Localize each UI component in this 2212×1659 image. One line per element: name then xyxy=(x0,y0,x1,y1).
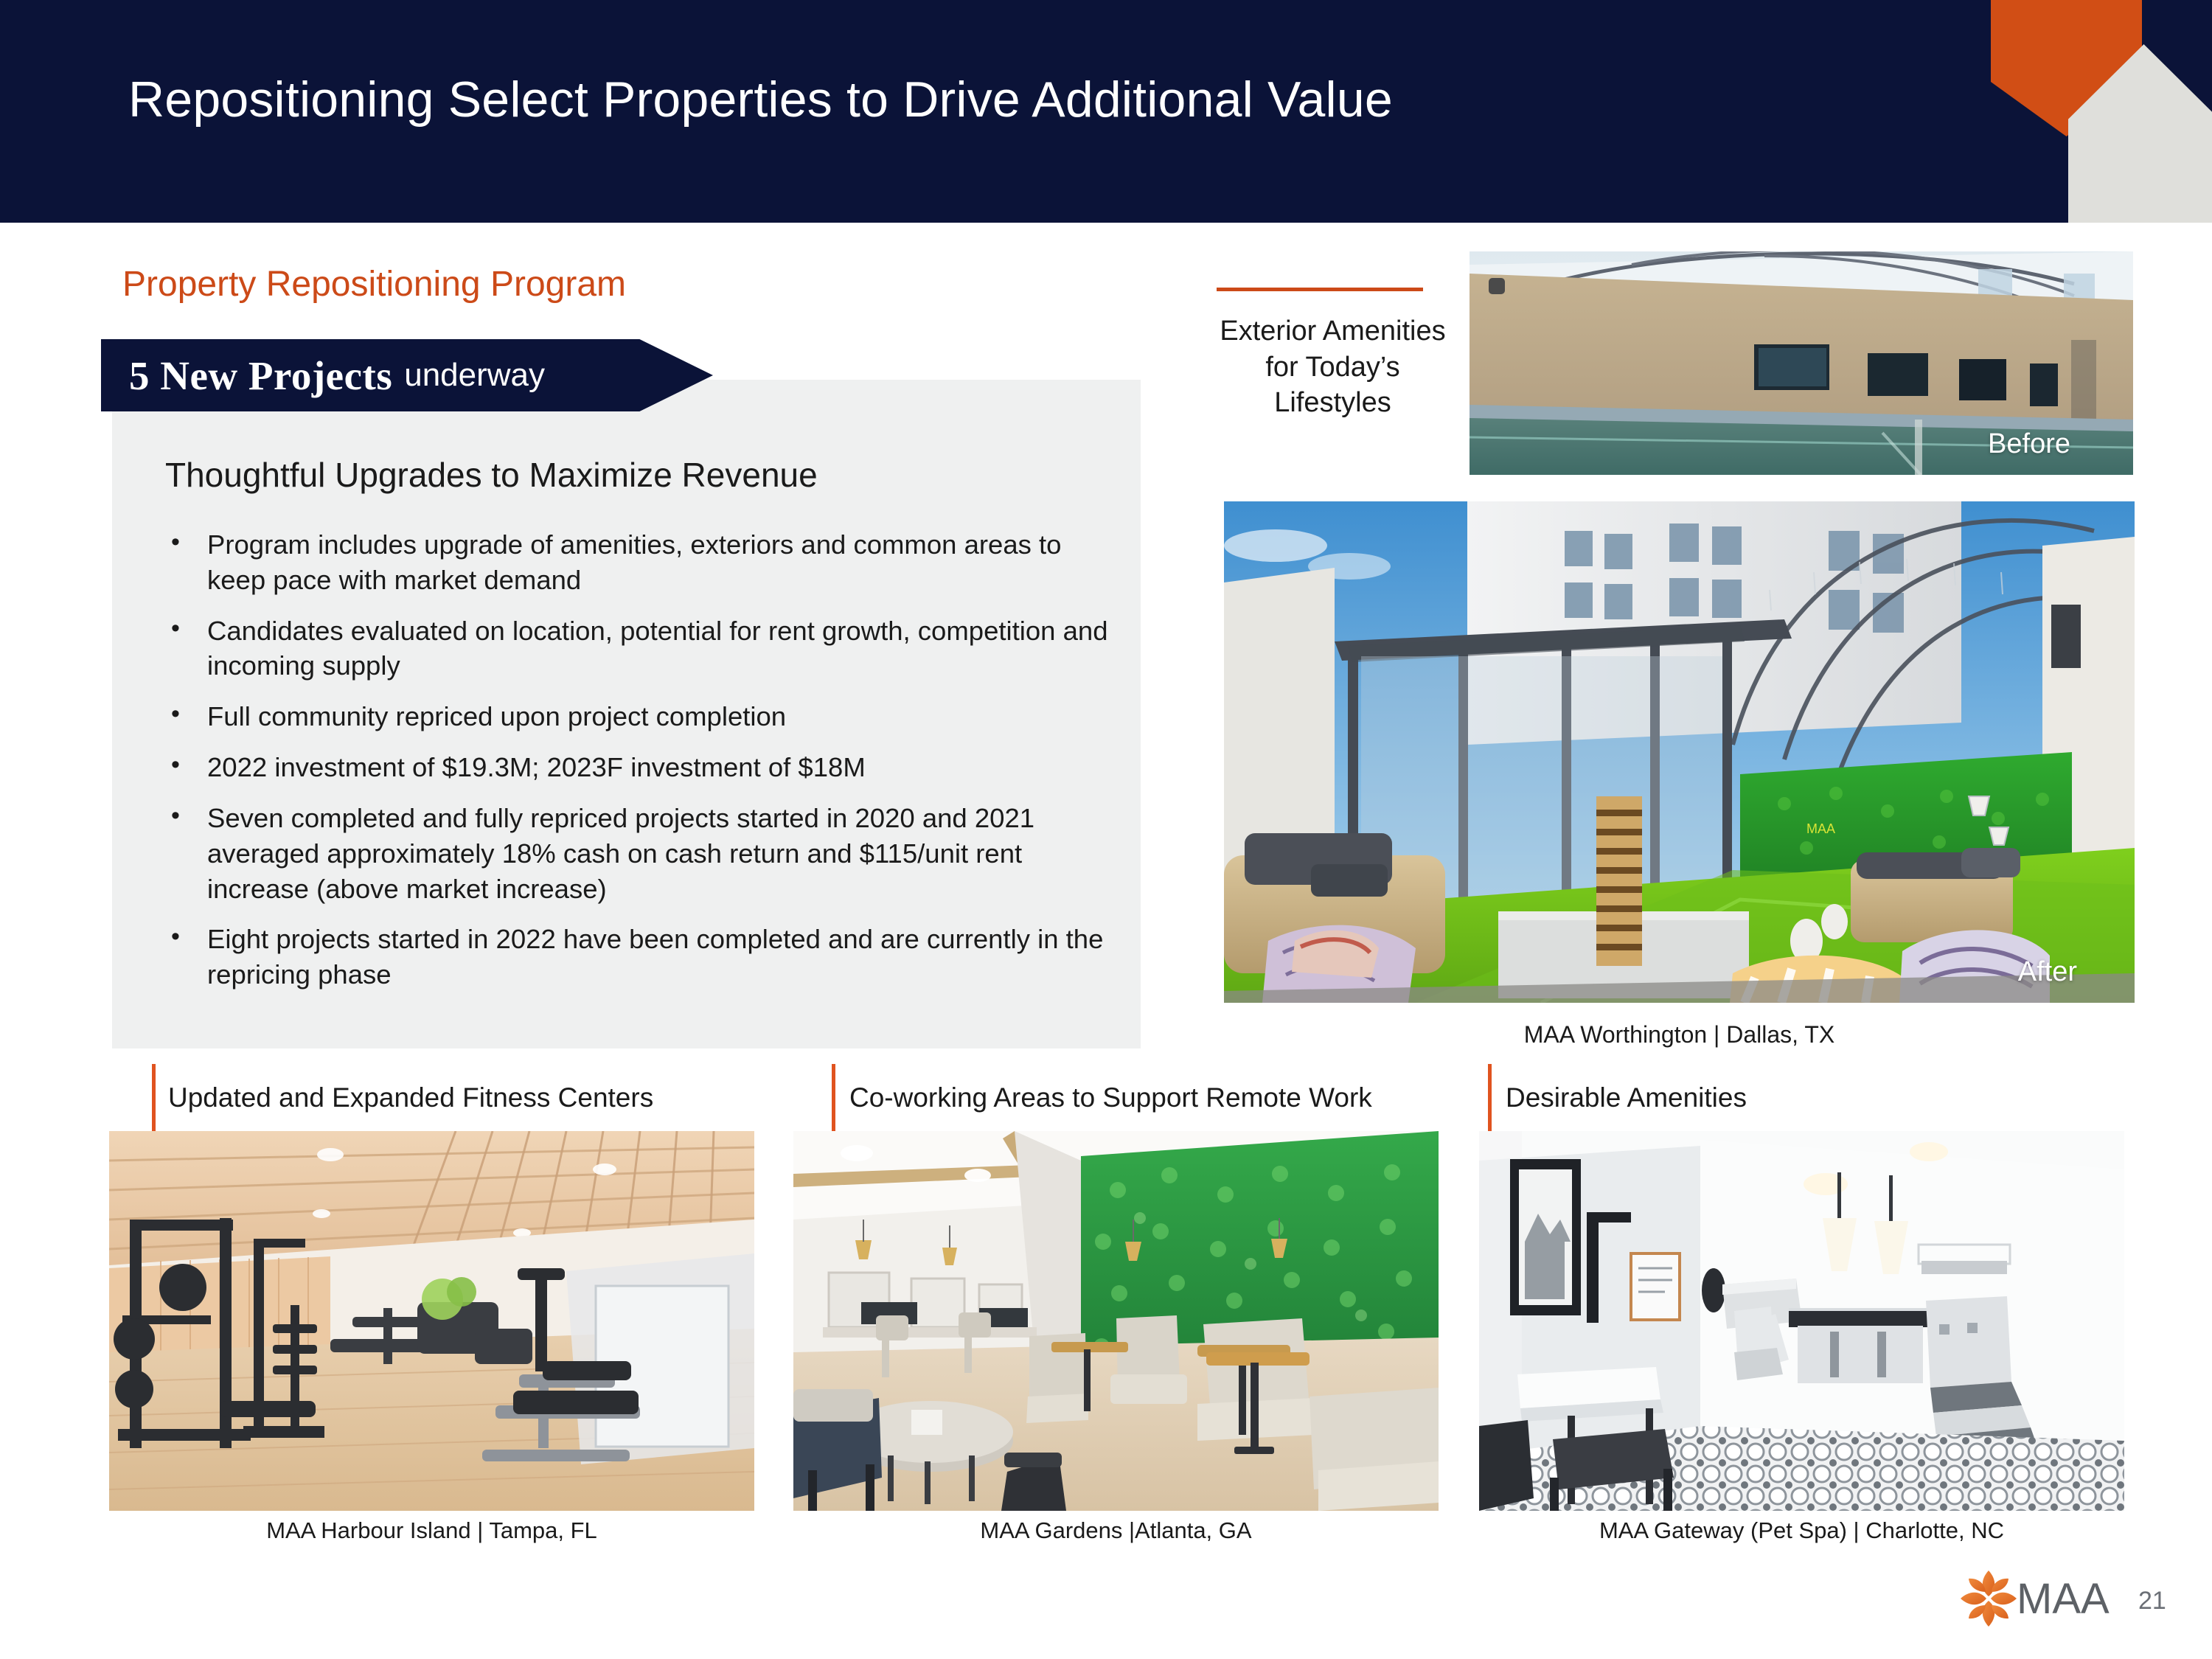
slide-header: Repositioning Select Properties to Drive… xyxy=(0,0,2212,223)
petspa-photo-art xyxy=(1479,1131,2124,1511)
list-item: Seven completed and fully repriced proje… xyxy=(165,801,1116,906)
list-item: Eight projects started in 2022 have been… xyxy=(165,922,1116,992)
coworking-photo xyxy=(793,1131,1439,1511)
panel-heading: Thoughtful Upgrades to Maximize Revenue xyxy=(165,455,818,495)
section-kicker: Property Repositioning Program xyxy=(122,264,626,305)
maa-logo-art: MAA xyxy=(1956,1565,2115,1632)
after-photo-caption: MAA Worthington | Dallas, TX xyxy=(1224,1021,2135,1048)
page-title: Repositioning Select Properties to Drive… xyxy=(128,71,1393,128)
amenities-label: Desirable Amenities xyxy=(1506,1082,1747,1113)
list-item: 2022 investment of $19.3M; 2023F investm… xyxy=(165,750,1116,785)
after-photo-art: MAA xyxy=(1224,501,2135,1003)
petspa-photo xyxy=(1479,1131,2124,1511)
fitness-photo xyxy=(109,1131,754,1511)
projects-banner: 5 New Projects underway xyxy=(101,339,713,411)
fitness-label: Updated and Expanded Fitness Centers xyxy=(168,1082,653,1113)
list-item: Program includes upgrade of amenities, e… xyxy=(165,527,1116,598)
page-number: 21 xyxy=(2138,1587,2166,1615)
svg-text:MAA: MAA xyxy=(1806,821,1835,836)
list-item: Candidates evaluated on location, potent… xyxy=(165,613,1116,684)
fitness-caption: MAA Harbour Island | Tampa, FL xyxy=(109,1517,754,1544)
maa-logo: MAA xyxy=(1956,1565,2115,1632)
exterior-connector-rule xyxy=(1217,288,1423,291)
coworking-caption: MAA Gardens |Atlanta, GA xyxy=(793,1517,1439,1544)
exterior-amenities-label: Exterior Amenities for Today’s Lifestyle… xyxy=(1206,313,1460,421)
before-tag: Before xyxy=(1988,428,2070,460)
maa-wordmark: MAA xyxy=(2017,1575,2110,1623)
bullet-list: Program includes upgrade of amenities, e… xyxy=(165,527,1116,1008)
before-photo: Before xyxy=(1470,251,2133,475)
list-item: Full community repriced upon project com… xyxy=(165,699,1116,734)
petspa-caption: MAA Gateway (Pet Spa) | Charlotte, NC xyxy=(1479,1517,2124,1544)
coworking-label: Co-working Areas to Support Remote Work xyxy=(849,1082,1372,1113)
after-photo: MAA xyxy=(1224,501,2135,1003)
after-tag: After xyxy=(2018,956,2077,988)
coworking-photo-art xyxy=(793,1131,1439,1511)
projects-banner-light: underway xyxy=(404,357,545,394)
projects-banner-strong: 5 New Projects xyxy=(129,352,392,399)
fitness-photo-art xyxy=(109,1131,754,1511)
